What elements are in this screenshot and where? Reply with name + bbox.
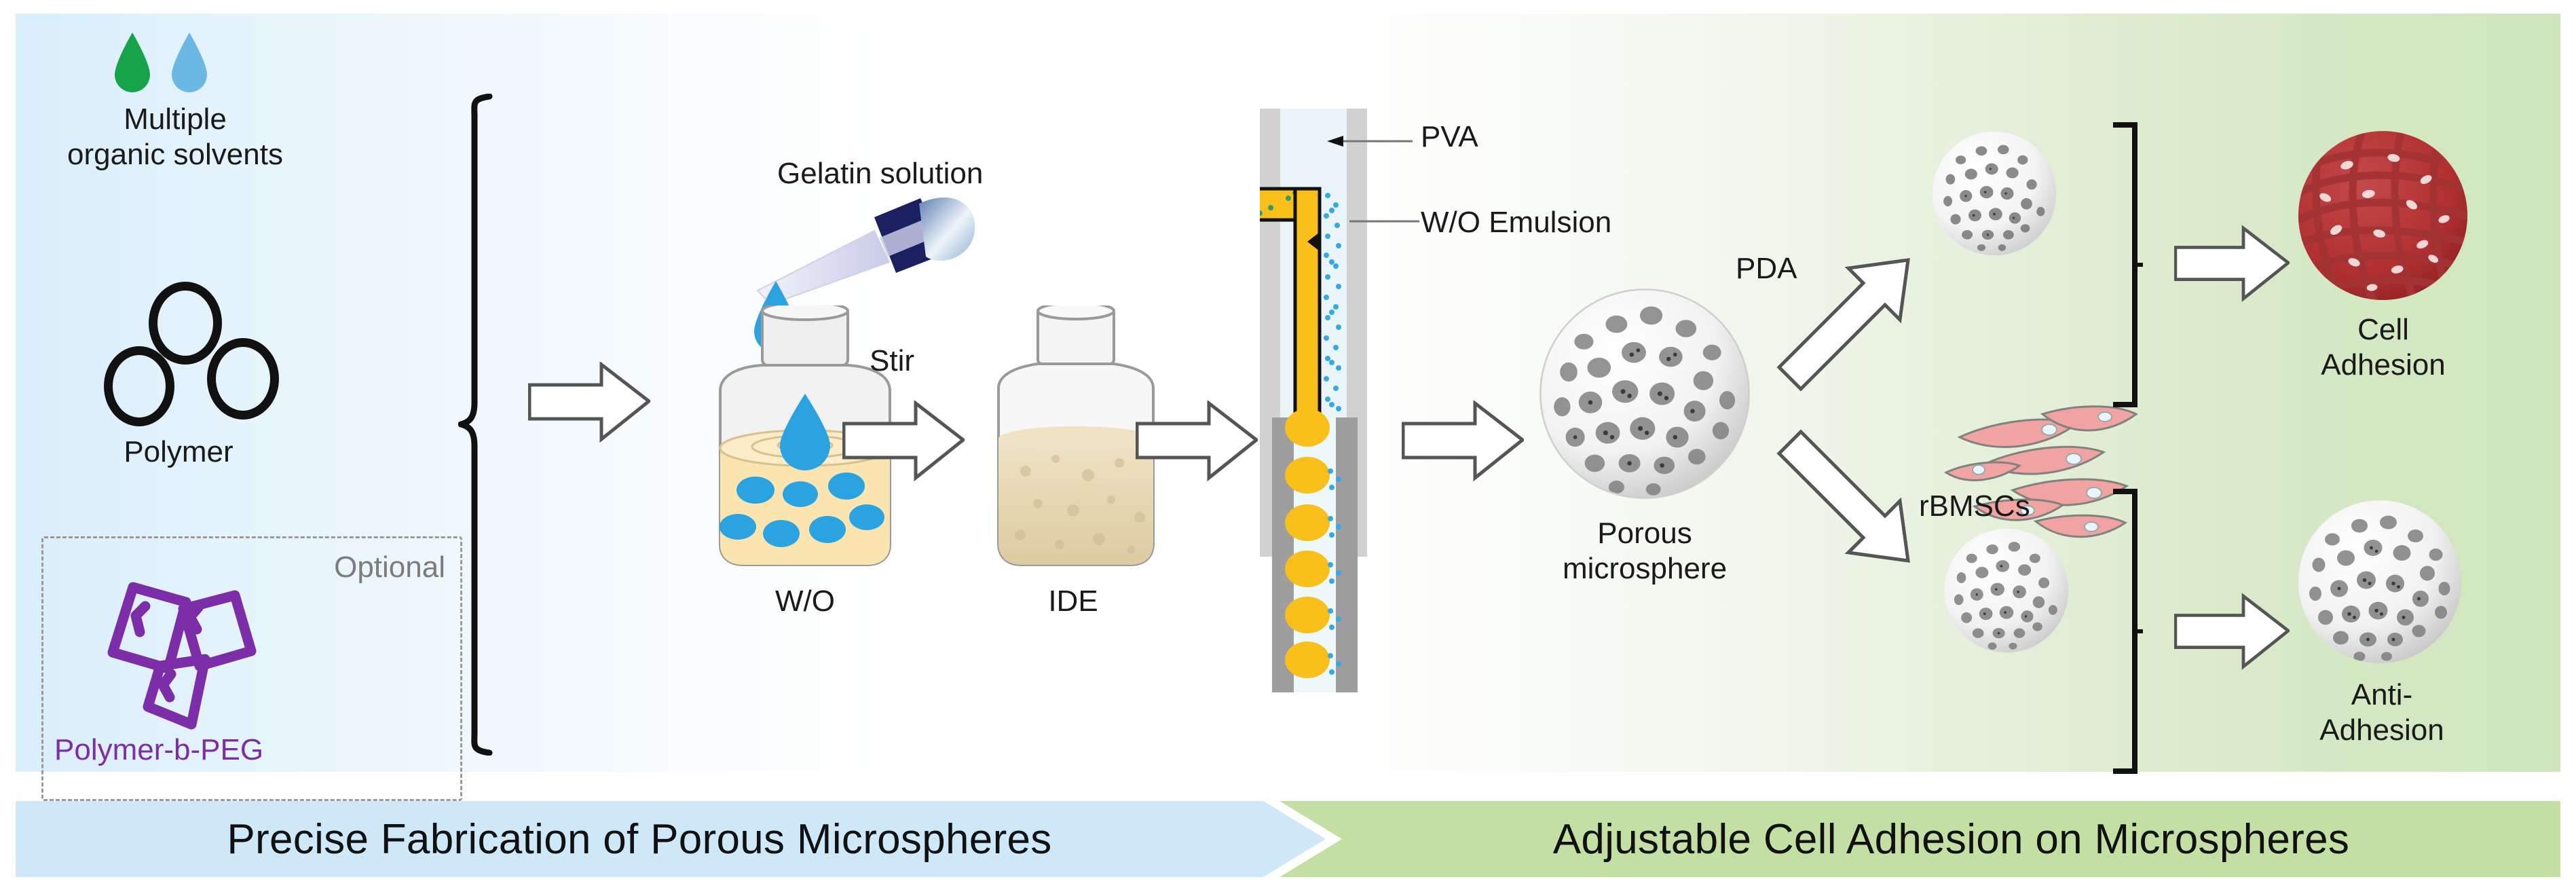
optional-badge: Optional bbox=[334, 551, 445, 584]
emulsion-label: W/O Emulsion bbox=[1421, 205, 1611, 240]
porous-microsphere-label-line1: Porous bbox=[1597, 516, 1692, 551]
peg-label: Polymer-b-PEG bbox=[54, 732, 263, 768]
polymer-ring-3 bbox=[207, 338, 279, 420]
arrow-to-cell-adhesion bbox=[2174, 224, 2290, 304]
cell-adhesion-bracket bbox=[2112, 122, 2143, 407]
solvents-label-line2: organic solvents bbox=[67, 137, 283, 172]
arrow-to-anti-adhesion bbox=[2174, 592, 2290, 672]
porous-microsphere-label-line2: microsphere bbox=[1563, 551, 1727, 587]
optional-block: Optional Polymer-b-PEG bbox=[41, 536, 462, 801]
arrow-inputs-to-wo bbox=[528, 362, 650, 443]
cell-adhesion-sphere-icon bbox=[2293, 126, 2473, 305]
polymer-ring-1 bbox=[149, 282, 222, 365]
solvents-label-line1: Multiple bbox=[124, 102, 227, 137]
pva-label: PVA bbox=[1421, 119, 1478, 155]
gelatin-label: Gelatin solution bbox=[777, 156, 983, 191]
arrow-ide-to-device bbox=[1136, 401, 1258, 482]
porous-microsphere-icon bbox=[1536, 285, 1753, 502]
arrow-device-to-microsphere bbox=[1402, 401, 1524, 482]
anti-adhesion-bracket bbox=[2112, 489, 2143, 774]
illustration-panel: Multiple organic solvents Polymer Option… bbox=[16, 14, 2560, 772]
peg-blocks-icon bbox=[77, 567, 301, 743]
arrow-wo-to-ide bbox=[842, 401, 965, 482]
figure-root: Multiple organic solvents Polymer Option… bbox=[0, 0, 2576, 892]
rbmsc-label: rBMSCs bbox=[1919, 489, 2030, 524]
wo-label: W/O bbox=[775, 584, 835, 619]
solvent-droplets-icon bbox=[97, 27, 246, 102]
polymer-ring-2 bbox=[104, 346, 174, 426]
pda-coated-microsphere-icon bbox=[1930, 129, 2059, 258]
cell-adhesion-label: Cell Adhesion bbox=[2295, 312, 2472, 383]
anti-adhesion-sphere-icon bbox=[2295, 497, 2465, 667]
banner-right-text: Adjustable Cell Adhesion on Microspheres bbox=[1342, 801, 2560, 877]
summary-banner: Precise Fabrication of Porous Microspher… bbox=[16, 801, 2560, 877]
microfluidic-device bbox=[1260, 109, 1382, 692]
inputs-brace bbox=[458, 94, 506, 756]
emulsion-leader-line bbox=[1349, 219, 1421, 224]
ide-label: IDE bbox=[1048, 584, 1098, 619]
polymer-label: Polymer bbox=[124, 434, 233, 470]
pva-leader-line bbox=[1326, 134, 1414, 148]
stir-label: Stir bbox=[870, 343, 914, 379]
anti-adhesion-label: Anti-Adhesion bbox=[2293, 677, 2471, 748]
banner-left-text: Precise Fabrication of Porous Microspher… bbox=[16, 801, 1263, 877]
